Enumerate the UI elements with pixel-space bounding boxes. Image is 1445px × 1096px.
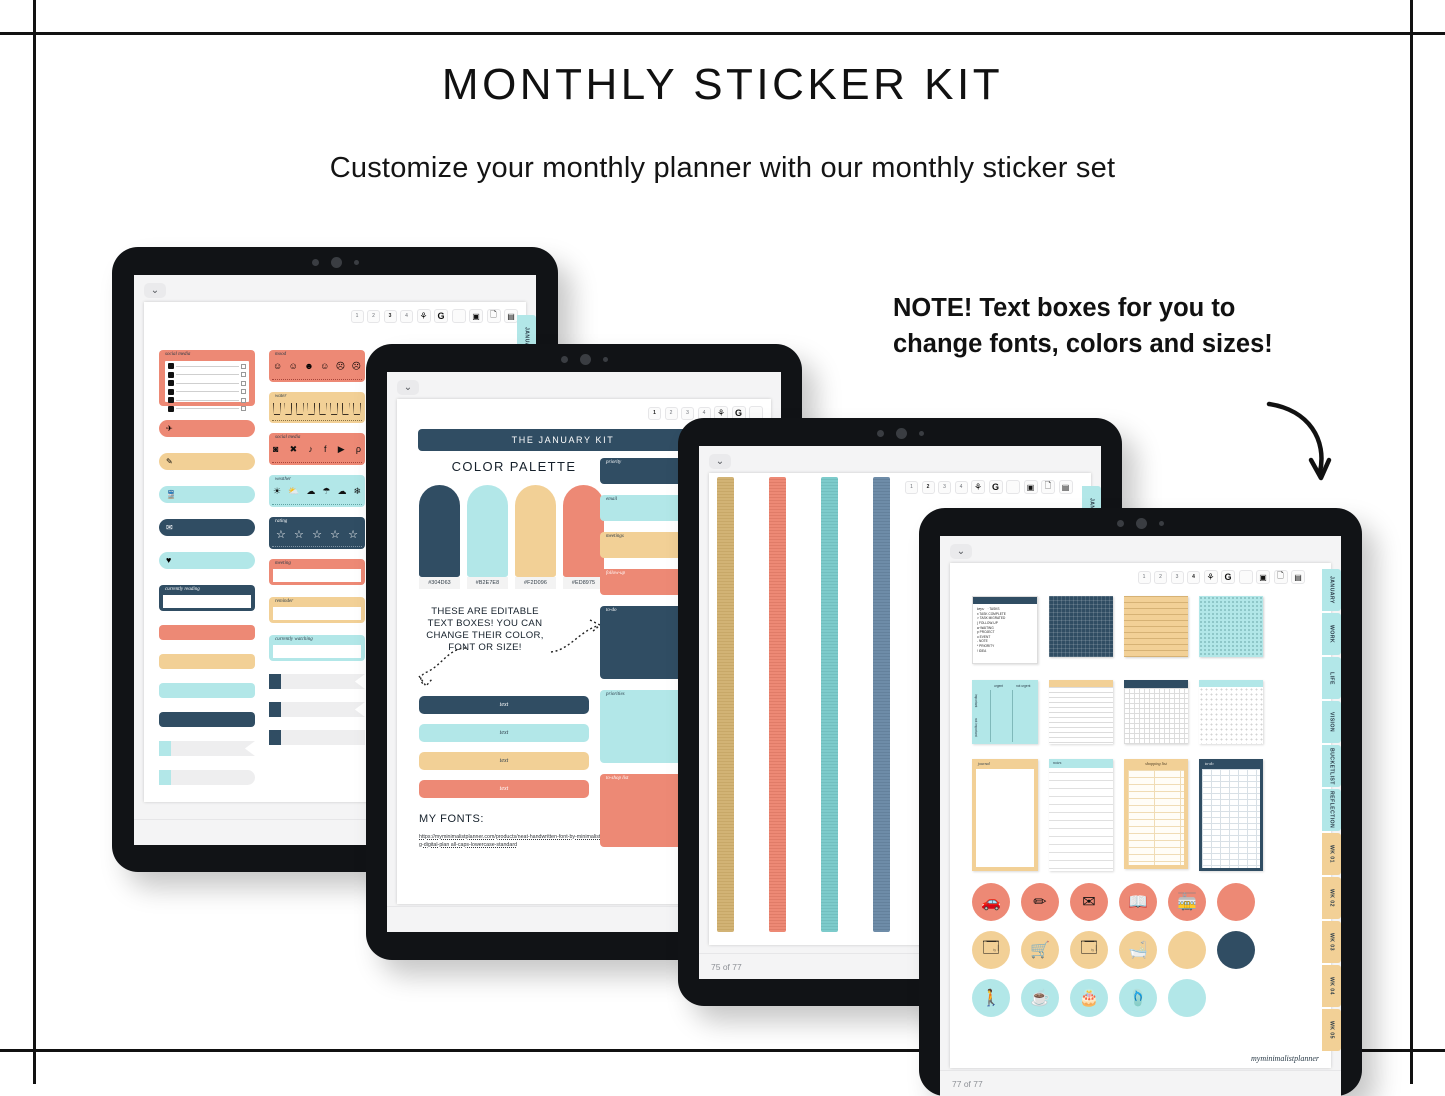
tablet-3-topbar: ⌄ xyxy=(699,446,1101,476)
side-tab-bucketlist[interactable]: BUCKETLIST xyxy=(1322,745,1341,787)
notepad-shopping-list[interactable]: shopping list xyxy=(1124,759,1188,869)
sticker-flag-navy-3[interactable] xyxy=(269,730,365,745)
sticker-label: reminder xyxy=(275,599,293,604)
notepads-row-3: journal notes shopping list to-do xyxy=(972,759,1263,871)
sticker-currently-watching-box[interactable]: currently watching xyxy=(269,635,365,661)
page-btn-3[interactable]: 3 xyxy=(1171,571,1184,584)
my-fonts-title: MY FONTS: xyxy=(419,813,484,825)
sticker-pill-pen[interactable]: ✎ xyxy=(159,453,255,470)
sticker-icon[interactable]: ▣ xyxy=(1256,570,1270,584)
page-title: MONTHLY STICKER KIT xyxy=(0,60,1445,110)
page-icon[interactable]: 🗋 xyxy=(1041,480,1055,494)
water-glasses xyxy=(273,403,361,415)
train-icon: 🚆 xyxy=(166,490,176,499)
mood-faces: ☺☺☻☺☹☹ xyxy=(273,361,361,372)
chevron-down-icon[interactable]: ⌄ xyxy=(144,283,166,298)
youtube-icon: ▶ xyxy=(338,444,345,455)
washer-icon[interactable]: 🗔 xyxy=(1070,931,1108,969)
blank-icon[interactable] xyxy=(1168,931,1206,969)
page-btn-2[interactable]: 2 xyxy=(367,310,380,323)
color-palette: #304D63 #B2E7E8 #F2D096 #ED8975 xyxy=(419,485,604,589)
page-btn-2[interactable]: 2 xyxy=(1154,571,1167,584)
swatch-navy[interactable]: #304D63 xyxy=(419,485,460,589)
apple-icon[interactable] xyxy=(1239,570,1253,584)
side-tab-life[interactable]: LIFE xyxy=(1322,657,1341,699)
side-tab-wk-04[interactable]: WK 04 xyxy=(1322,965,1341,1007)
tablet-3-camera-dots xyxy=(678,428,1122,439)
washi-strip-teal[interactable] xyxy=(821,477,838,932)
side-tab-reflection[interactable]: REFLECTION xyxy=(1322,789,1341,831)
sticker-rating-card[interactable]: rating ☆☆☆☆☆ xyxy=(269,517,365,549)
sticker-bar-mint[interactable] xyxy=(159,683,255,698)
heart-icon: ♥ xyxy=(166,555,171,565)
swatch-sand[interactable]: #F2D096 xyxy=(515,485,556,589)
tablet-4-topbar: ⌄ xyxy=(940,536,1341,566)
notepad-label: to-do xyxy=(1205,761,1213,766)
page-btn-3[interactable]: 3 xyxy=(938,481,951,494)
blank-icon[interactable] xyxy=(1168,979,1206,1017)
notepad-notes[interactable]: notes xyxy=(1049,759,1113,871)
page-btn-2[interactable]: 2 xyxy=(922,481,935,494)
side-tab-wk-05[interactable]: WK 05 xyxy=(1322,1009,1341,1051)
side-tab-vision[interactable]: VISION xyxy=(1322,701,1341,743)
notepad-grid-navy-header[interactable] xyxy=(1124,680,1188,744)
kit-header: THE JANUARY KIT xyxy=(418,429,708,451)
instagram-icon: ◙ xyxy=(273,444,278,455)
happy-face-icon: ☺ xyxy=(273,361,282,372)
sticker-pill-train[interactable]: 🚆 xyxy=(159,486,255,503)
blank-icon[interactable] xyxy=(1217,931,1255,969)
sticker-water-card[interactable]: water xyxy=(269,392,365,423)
sticker-label: rating xyxy=(275,519,287,524)
text-button-mint[interactable]: text xyxy=(419,724,589,742)
page-icon[interactable]: 🗋 xyxy=(1274,570,1288,584)
text-buttons: text text text text xyxy=(419,696,589,798)
flipflops-icon[interactable]: 🩴 xyxy=(1119,979,1157,1017)
text-button-coral[interactable]: text xyxy=(419,780,589,798)
page-btn-3[interactable]: 3 xyxy=(384,310,397,323)
envelope-icon[interactable]: ✉ xyxy=(1070,883,1108,921)
pen-icon: ✎ xyxy=(166,457,173,466)
brand-logo: myminimalistplanner xyxy=(1251,1054,1319,1063)
tablet-2-camera-dots xyxy=(366,354,802,365)
notepad-eisenhower-matrix[interactable]: urgent not urgent important not importan… xyxy=(972,680,1038,744)
sticker-label: mood xyxy=(275,352,286,357)
washi-strips xyxy=(717,477,890,932)
page-indicator: 75 of 77 xyxy=(711,962,742,972)
sticker-flag-mint-1[interactable] xyxy=(159,741,255,756)
sun-icon: ☀ xyxy=(273,486,281,497)
wind-icon: ☁ xyxy=(337,486,346,497)
cloud-icon: ☁ xyxy=(306,486,315,497)
tablet-4[interactable]: ⌄ 1 2 3 4 ⚘ G ▣ 🗋 ▤ keys: xyxy=(919,508,1362,1096)
page-btn-3[interactable]: 3 xyxy=(681,407,694,420)
notepad-journal[interactable]: journal xyxy=(972,759,1038,871)
sad-face-icon: ☹ xyxy=(336,361,345,372)
washi-strip-coral[interactable] xyxy=(769,477,786,932)
sticker-icon[interactable]: ▣ xyxy=(469,309,483,323)
notepad-lined-sand[interactable] xyxy=(1124,596,1188,657)
tablet-2-topbar: ⌄ xyxy=(387,372,781,402)
pencil-icon[interactable]: ✏ xyxy=(1021,883,1059,921)
dotted-arrow-icon-2 xyxy=(411,644,471,690)
swatch-coral[interactable]: #ED8975 xyxy=(563,485,604,589)
side-tab-wk-02[interactable]: WK 02 xyxy=(1322,877,1341,919)
sticker-bar-navy[interactable] xyxy=(159,712,255,727)
partly-cloudy-icon: ⛅ xyxy=(288,486,299,497)
note-line-1: NOTE! Text boxes for you to xyxy=(893,290,1363,326)
page-btn-4[interactable]: 4 xyxy=(400,310,413,323)
note-callout: NOTE! Text boxes for you to change fonts… xyxy=(893,290,1363,363)
bookmark-icon[interactable]: ⚘ xyxy=(1204,570,1218,584)
tablet-4-page: 1 2 3 4 ⚘ G ▣ 🗋 ▤ keys: · TASKS x TAS xyxy=(950,563,1331,1068)
icon-row-mint: 🚶 ☕ 🎂 🩴 xyxy=(972,979,1255,1017)
washer-icon[interactable]: 🗔 xyxy=(972,931,1010,969)
calendar-icon[interactable]: ▤ xyxy=(1291,570,1305,584)
neutral-face-icon: ☻ xyxy=(304,361,313,372)
calendar-icon[interactable]: ▤ xyxy=(504,309,518,323)
sticker-reminder-box[interactable]: reminder xyxy=(269,597,365,623)
sticker-icon[interactable]: ▣ xyxy=(1024,480,1038,494)
snow-icon: ❄ xyxy=(353,486,361,497)
legend-card[interactable]: keys: · TASKS x TASK COMPLETE > TASK MIG… xyxy=(972,596,1038,664)
icon-row-coral: 🚗 ✏ ✉ 📖 🚋 xyxy=(972,883,1255,921)
bookmark-icon[interactable]: ⚘ xyxy=(417,309,431,323)
washi-strip-gold[interactable] xyxy=(717,477,734,932)
page-btn-4[interactable]: 4 xyxy=(1187,571,1200,584)
notepad-todo[interactable]: to-do xyxy=(1199,759,1263,871)
sticker-pill-heart[interactable]: ♥ xyxy=(159,552,255,569)
sticker-social-media-checklist[interactable]: social media xyxy=(159,350,255,406)
tablet-4-toolbar[interactable]: 1 2 3 4 ⚘ G ▣ 🗋 ▤ xyxy=(1138,570,1306,584)
sticker-bar-sand[interactable] xyxy=(159,654,255,669)
notepad-label: shopping list xyxy=(1124,761,1188,766)
notepad-label: journal xyxy=(978,761,990,766)
car-icon[interactable]: 🚗 xyxy=(972,883,1010,921)
sticker-pill-envelope[interactable]: ✉ xyxy=(159,519,255,536)
sticker-social-media-icons[interactable]: social media ◙✖♪f▶ρ xyxy=(269,433,365,465)
bookmark-icon[interactable]: ⚘ xyxy=(971,480,985,494)
swatch-mint[interactable]: #B2E7E8 xyxy=(467,485,508,589)
sticker-label: meeting xyxy=(275,561,291,566)
sticker-label: social media xyxy=(165,352,190,357)
page-btn-4[interactable]: 4 xyxy=(955,481,968,494)
page-btn-1[interactable]: 1 xyxy=(1138,571,1151,584)
sticker-label: currently watching xyxy=(275,637,313,642)
envelope-icon: ✉ xyxy=(166,523,173,532)
pinterest-icon: ρ xyxy=(356,444,361,455)
washi-strip-blue[interactable] xyxy=(873,477,890,932)
page-icon[interactable]: 🗋 xyxy=(487,309,501,323)
facebook-icon: f xyxy=(324,444,327,455)
sticker-meeting-box[interactable]: meeting xyxy=(269,559,365,585)
book-icon[interactable]: 📖 xyxy=(1119,883,1157,921)
notepad-grid-navy[interactable] xyxy=(1049,596,1113,657)
sticker-flag-navy-2[interactable] xyxy=(269,702,365,717)
tablet-4-screen[interactable]: ⌄ 1 2 3 4 ⚘ G ▣ 🗋 ▤ keys: xyxy=(940,536,1341,1096)
google-icon[interactable]: G xyxy=(989,480,1003,494)
sticker-label: water xyxy=(275,394,286,399)
sticker-flag-navy-1[interactable] xyxy=(269,674,365,689)
blank-icon[interactable] xyxy=(1217,883,1255,921)
page-subtitle: Customize your monthly planner with our … xyxy=(0,152,1445,185)
chevron-down-icon[interactable]: ⌄ xyxy=(950,544,972,559)
curved-arrow-icon xyxy=(1265,398,1335,488)
tablet-1-topbar: ⌄ xyxy=(134,275,536,305)
notepad-dot-mint[interactable] xyxy=(1199,596,1263,657)
notepad-dot-mint-header[interactable] xyxy=(1199,680,1263,744)
notepads-row-1: keys: · TASKS x TASK COMPLETE > TASK MIG… xyxy=(972,596,1263,664)
text-button-navy[interactable]: text xyxy=(419,696,589,714)
sticker-label: weather xyxy=(275,477,291,482)
side-tab-wk-03[interactable]: WK 03 xyxy=(1322,921,1341,963)
tablet-1-toolbar[interactable]: 1 2 3 4 ⚘ G ▣ 🗋 ▤ xyxy=(351,309,519,323)
tablet-4-bottombar: 77 of 77 xyxy=(940,1070,1341,1096)
icon-row-sand: 🗔 🛒 🗔 🛁 xyxy=(972,931,1255,969)
sticker-mood-card[interactable]: mood ☺☺☻☺☹☹ xyxy=(269,350,365,382)
meh-face-icon: ☺ xyxy=(320,361,329,372)
page-btn-2[interactable]: 2 xyxy=(665,407,678,420)
smile-face-icon: ☺ xyxy=(289,361,298,372)
side-tab-work[interactable]: WORK xyxy=(1322,613,1341,655)
sticker-label: currently reading xyxy=(165,587,200,592)
text-button-sand[interactable]: text xyxy=(419,752,589,770)
icon-sticker-grid: 🚗 ✏ ✉ 📖 🚋 🗔 🛒 🗔 🛁 🚶 ☕ xyxy=(972,883,1255,1017)
chevron-down-icon[interactable]: ⌄ xyxy=(397,380,419,395)
notepad-label: notes xyxy=(1053,760,1061,765)
tablet-4-side-tabs[interactable]: JANUARY WORK LIFE VISION BUCKETLIST REFL… xyxy=(1322,569,1341,1053)
rain-icon: ☂ xyxy=(322,486,330,497)
page-btn-1[interactable]: 1 xyxy=(351,310,364,323)
google-icon[interactable]: G xyxy=(1221,570,1235,584)
side-tab-january[interactable]: JANUARY xyxy=(1322,569,1341,611)
traveler-icon[interactable]: 🚶 xyxy=(972,979,1010,1017)
sticker-flag-mint-2[interactable] xyxy=(159,770,255,785)
calendar-icon[interactable]: ▤ xyxy=(1059,480,1073,494)
palette-title: COLOR PALETTE xyxy=(419,459,609,474)
bath-icon[interactable]: 🛁 xyxy=(1119,931,1157,969)
x-icon: ✖ xyxy=(290,444,298,455)
legend-item: ! IDEA xyxy=(977,649,1033,654)
tablet-1-camera-dots xyxy=(112,257,558,268)
notepad-lined-sand-header[interactable] xyxy=(1049,680,1113,744)
tiktok-icon: ♪ xyxy=(308,444,313,455)
google-icon[interactable]: G xyxy=(434,309,448,323)
header: MONTHLY STICKER KIT Customize your month… xyxy=(0,60,1445,185)
sticker-weather-card[interactable]: weather ☀⛅☁☂☁❄ xyxy=(269,475,365,507)
cart-icon[interactable]: 🛒 xyxy=(1021,931,1059,969)
side-tab-wk-01[interactable]: WK 01 xyxy=(1322,833,1341,875)
chevron-down-icon[interactable]: ⌄ xyxy=(709,454,731,469)
notepads-row-2: urgent not urgent important not importan… xyxy=(972,680,1263,744)
tablet-3-toolbar[interactable]: 1 2 3 4 ⚘ G ▣ 🗋 ▤ xyxy=(905,480,1073,494)
sticker-currently-reading[interactable]: currently reading xyxy=(159,585,255,611)
apple-icon[interactable] xyxy=(1006,480,1020,494)
sticker-label: social media xyxy=(275,435,300,440)
pin-icon: ✈ xyxy=(166,424,173,433)
sticker-bar-coral[interactable] xyxy=(159,625,255,640)
apple-icon[interactable] xyxy=(452,309,466,323)
note-line-2: change fonts, colors and sizes! xyxy=(893,326,1363,362)
page-btn-1[interactable]: 1 xyxy=(648,407,661,420)
rating-stars: ☆☆☆☆☆ xyxy=(276,528,358,541)
sticker-pill-pin[interactable]: ✈ xyxy=(159,420,255,437)
train-icon[interactable]: 🚋 xyxy=(1168,883,1206,921)
upset-face-icon: ☹ xyxy=(352,361,361,372)
cake-icon[interactable]: 🎂 xyxy=(1070,979,1108,1017)
tablet-4-camera-dots xyxy=(919,518,1362,529)
page-btn-1[interactable]: 1 xyxy=(905,481,918,494)
crop-mark-top xyxy=(0,32,1445,35)
coffee-icon[interactable]: ☕ xyxy=(1021,979,1059,1017)
